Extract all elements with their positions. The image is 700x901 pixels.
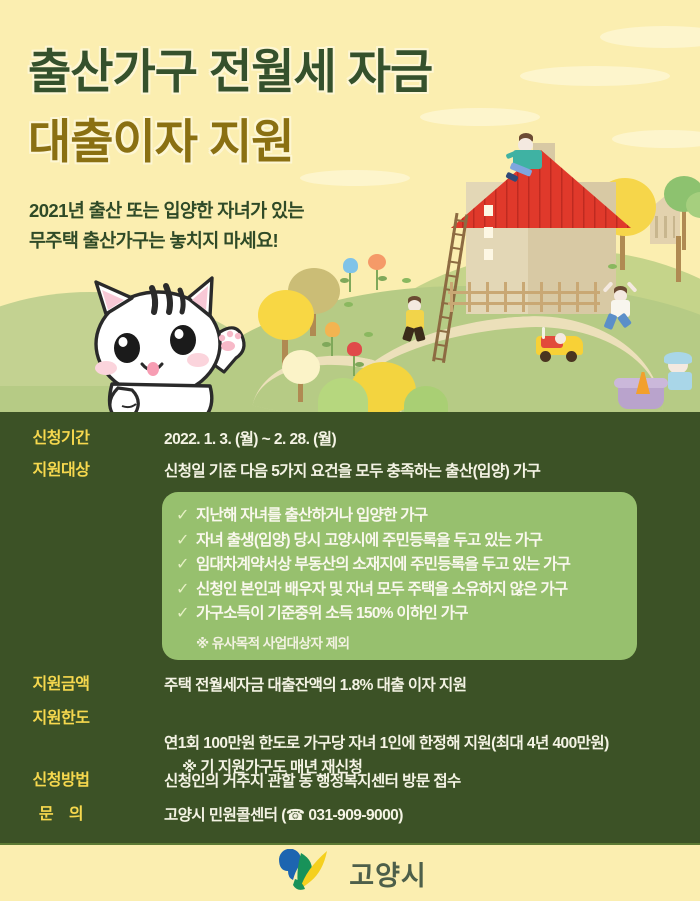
row-label: 지원금액 bbox=[0, 674, 122, 696]
car-wheel bbox=[566, 351, 577, 362]
check-icon: ✓ bbox=[176, 529, 196, 554]
flower-small-grass bbox=[344, 300, 360, 310]
info-row-contact: 문 의 고양시 민원콜센터 (☎ 031-909-9000) bbox=[0, 804, 700, 828]
tree-trunk bbox=[676, 236, 681, 282]
fence-post bbox=[486, 282, 489, 312]
flower-blue bbox=[340, 258, 360, 292]
house-window bbox=[484, 205, 493, 216]
child-by-sandbox bbox=[660, 352, 700, 400]
flower-small-grass bbox=[608, 262, 624, 272]
person-arm bbox=[602, 281, 613, 293]
eligibility-checklist-card: ✓ 지난해 자녀를 출산하거나 입양한 가구 ✓ 자녀 출생(입양) 당시 고양… bbox=[162, 492, 637, 660]
person-leg bbox=[505, 172, 518, 183]
checklist-item: ✓ 임대차계약서상 부동산의 소재지에 주민등록을 두고 있는 가구 bbox=[162, 553, 637, 578]
flower-small-grass bbox=[364, 330, 380, 340]
goyang-city-logo-icon bbox=[273, 849, 339, 898]
hero-illustration: 출산가구 전월세 자금 대출이자 지원 2021년 출산 또는 입양한 자녀가 … bbox=[0, 0, 700, 412]
house-window bbox=[484, 227, 493, 238]
car-child bbox=[541, 330, 567, 352]
fence-post bbox=[594, 282, 597, 312]
row-value: 고양시 민원콜센터 (☎ 031-909-9000) bbox=[122, 804, 700, 828]
check-icon: ✓ bbox=[176, 504, 196, 529]
person-carrying-ladder bbox=[404, 296, 440, 340]
check-icon: ✓ bbox=[176, 553, 196, 578]
flower-small-grass bbox=[402, 276, 418, 286]
cloud-shape bbox=[420, 108, 540, 126]
flower-leaf bbox=[378, 276, 387, 281]
child-torso bbox=[668, 372, 692, 390]
row-label: 지원한도 bbox=[0, 708, 122, 730]
person-jumping bbox=[602, 282, 642, 328]
fence-post bbox=[522, 282, 525, 312]
fence-post bbox=[468, 282, 471, 312]
flower-leaf bbox=[364, 332, 373, 337]
flower-leaf bbox=[608, 264, 617, 269]
flower-red bbox=[344, 342, 364, 376]
footer-logo-bar: 고양시 bbox=[0, 845, 700, 901]
poster-root: 출산가구 전월세 자금 대출이자 지원 2021년 출산 또는 입양한 자녀가 … bbox=[0, 0, 700, 901]
child-head bbox=[555, 333, 566, 344]
flower-orange bbox=[366, 254, 388, 290]
row-label: 신청방법 bbox=[0, 770, 122, 792]
row-value: 신청일 기준 다음 5가지 요건을 모두 충족하는 출산(입양) 가구 bbox=[122, 460, 700, 484]
row-label: 지원대상 bbox=[0, 460, 122, 482]
person-on-roof bbox=[505, 133, 551, 185]
checklist-item: ✓ 자녀 출생(입양) 당시 고양시에 주민등록을 두고 있는 가구 bbox=[162, 529, 637, 554]
info-row-how-to-apply: 신청방법 신청인의 거주지 관할 동 행정복지센터 방문 접수 bbox=[0, 770, 700, 794]
flower-leaf bbox=[322, 342, 331, 347]
check-icon: ✓ bbox=[176, 602, 196, 627]
fence-post bbox=[576, 282, 579, 312]
fence bbox=[448, 282, 600, 314]
info-row-application-period: 신청기간 2022. 1. 3. (월) ~ 2. 28. (월) bbox=[0, 428, 700, 452]
checklist-note: ※ 유사목적 사업대상자 제외 bbox=[162, 627, 637, 652]
person-leg bbox=[413, 326, 425, 342]
far-house-windows bbox=[655, 216, 675, 238]
row-label: 신청기간 bbox=[0, 428, 122, 450]
row-value: 주택 전월세자금 대출잔액의 1.8% 대출 이자 지원 bbox=[122, 674, 700, 698]
flower-bloom bbox=[368, 254, 386, 270]
poster-title-line2: 대출이자 지원 bbox=[28, 103, 294, 172]
tree-crown-pale bbox=[282, 350, 320, 384]
info-row-support-amount: 지원금액 주택 전월세자금 대출잔액의 1.8% 대출 이자 지원 bbox=[0, 674, 700, 698]
house-window bbox=[484, 249, 493, 260]
fence-post bbox=[558, 282, 561, 312]
checklist-item-text: 임대차계약서상 부동산의 소재지에 주민등록을 두고 있는 가구 bbox=[196, 553, 570, 578]
check-icon: ✓ bbox=[176, 578, 196, 603]
checklist-item-text: 지난해 자녀를 출산하거나 입양한 가구 bbox=[196, 504, 427, 529]
fence-post bbox=[450, 282, 453, 312]
flower-stem bbox=[349, 270, 351, 292]
info-panel: 신청기간 2022. 1. 3. (월) ~ 2. 28. (월) 지원대상 신… bbox=[0, 412, 700, 845]
toy-car bbox=[536, 328, 586, 362]
row-label: 문 의 bbox=[0, 804, 122, 826]
flower-bloom bbox=[325, 322, 340, 337]
flower-bloom bbox=[347, 342, 362, 356]
checklist-item-text: 자녀 출생(입양) 당시 고양시에 주민등록을 두고 있는 가구 bbox=[196, 529, 542, 554]
flower-stem bbox=[331, 334, 333, 356]
checklist-item-text: 가구소득이 기준중위 소득 150% 이하인 가구 bbox=[196, 602, 468, 627]
fence-post bbox=[504, 282, 507, 312]
flower-leaf bbox=[355, 362, 364, 367]
checklist-item: ✓ 신청인 본인과 배우자 및 자녀 모두 주택을 소유하지 않은 가구 bbox=[162, 578, 637, 603]
poster-subtitle: 2021년 출산 또는 입양한 자녀가 있는 무주택 출산가구는 놓치지 마세요… bbox=[29, 196, 304, 256]
person-leg bbox=[604, 313, 618, 330]
goyang-city-label: 고양시 bbox=[349, 854, 427, 893]
checklist-item-text: 신청인 본인과 배우자 및 자녀 모두 주택을 소유하지 않은 가구 bbox=[196, 578, 567, 603]
child-hat bbox=[664, 352, 692, 364]
flower-leaf bbox=[402, 278, 411, 283]
flower-bloom bbox=[343, 258, 358, 273]
row-value: 2022. 1. 3. (월) ~ 2. 28. (월) bbox=[122, 428, 700, 452]
flower-leaf bbox=[340, 278, 349, 283]
checklist-item: ✓ 가구소득이 기준중위 소득 150% 이하인 가구 bbox=[162, 602, 637, 627]
info-row-eligibility: 지원대상 신청일 기준 다음 5가지 요건을 모두 충족하는 출산(입양) 가구 bbox=[0, 460, 700, 484]
fence-post bbox=[540, 282, 543, 312]
cat-mascot bbox=[70, 272, 280, 412]
cloud-shape bbox=[300, 170, 410, 186]
row-value: 신청인의 거주지 관할 동 행정복지센터 방문 접수 bbox=[122, 770, 700, 794]
person-arm bbox=[626, 281, 637, 293]
flower-leaf bbox=[344, 302, 353, 307]
cloud-shape bbox=[600, 26, 700, 48]
cloud-shape bbox=[520, 66, 670, 86]
flower-yellow bbox=[322, 322, 342, 356]
poster-title-line1: 출산가구 전월세 자금 bbox=[28, 33, 432, 102]
car-wheel bbox=[540, 351, 551, 362]
cloud-shape bbox=[612, 130, 700, 148]
child-flag bbox=[542, 327, 545, 339]
row-value-main: 연1회 100만원 한도로 가구당 자녀 1인에 한정해 지원(최대 4년 40… bbox=[164, 735, 609, 752]
checklist-item: ✓ 지난해 자녀를 출산하거나 입양한 가구 bbox=[162, 504, 637, 529]
